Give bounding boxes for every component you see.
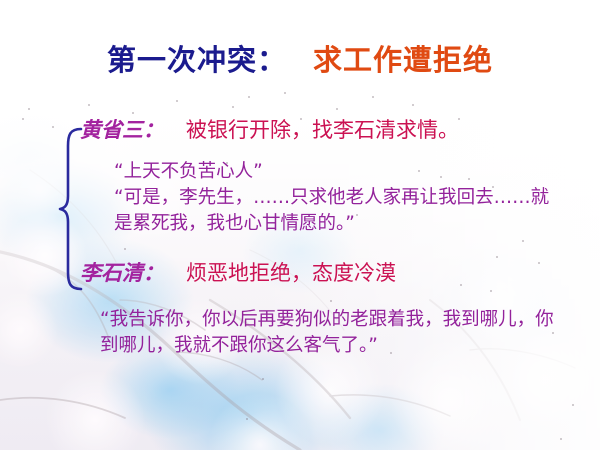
- page-title: 第一次冲突：求工作遭拒绝: [0, 46, 600, 75]
- quote-block-huang: “上天不负苦心人” “可是，李先生，……只求他老人家再让我回去……就是累死我，我…: [114, 159, 554, 237]
- slide-canvas: 第一次冲突：求工作遭拒绝 黄省三：被银行开除，找李石清求情。 “上天不负苦心人”…: [0, 0, 600, 450]
- title-part-blue: 第一次冲突：: [107, 43, 287, 77]
- action-text-li: 烦恶地拒绝，态度冷漠: [186, 261, 396, 285]
- entry-row-li: 李石清：烦恶地拒绝，态度冷漠: [80, 263, 396, 284]
- entry-row-huang: 黄省三：被银行开除，找李石清求情。: [80, 120, 459, 141]
- title-part-orange: 求工作遭拒绝: [313, 43, 493, 77]
- action-text-huang: 被银行开除，找李石清求情。: [186, 118, 459, 142]
- speaker-name-li: 李石清：: [80, 261, 164, 285]
- quote-block-li: “我告诉你，你以后再要狗似的老跟着我，我到哪儿，你到哪儿，我就不跟你这么客气了。…: [100, 307, 570, 359]
- slide-content: 第一次冲突：求工作遭拒绝 黄省三：被银行开除，找李石清求情。 “上天不负苦心人”…: [0, 0, 600, 450]
- speaker-name-huang: 黄省三：: [80, 118, 164, 142]
